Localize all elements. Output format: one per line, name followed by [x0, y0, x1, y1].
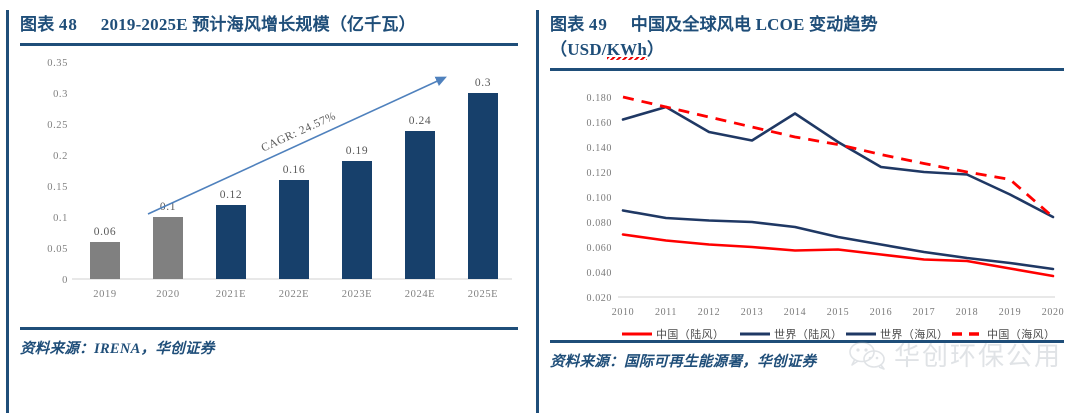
series-world-onshore: [623, 211, 1053, 270]
figure-49-chart: 0.180 0.160 0.140 0.120 0.100 0.080 0.06…: [550, 75, 1064, 340]
x-tick-label: 2019: [999, 307, 1021, 318]
y-tick-label: 0.060: [587, 243, 613, 254]
x-tick-label: 2010: [612, 307, 634, 318]
figure-48-title-prefix: 图表: [20, 15, 54, 34]
x-tick-label: 2017: [913, 307, 935, 318]
figure-page: 图表 48 2019-2025E 预计海风增长规模（亿千瓦） 0.35 0.3 …: [0, 0, 1080, 417]
bar-2025E: [468, 93, 498, 279]
figure-49-panel: 图表 49 中国及全球风电 LCOE 变动趋势 （USD/KWh） 0.180 …: [530, 0, 1080, 417]
series-world-offshore: [623, 107, 1053, 217]
y-tick-label: 0.05: [47, 244, 68, 255]
bar-2021E: [216, 205, 246, 279]
x-tick-label: 2023E: [342, 289, 372, 300]
bar-2023E: [342, 161, 372, 279]
x-tick-label: 2012: [698, 307, 720, 318]
x-tick-label: 2020: [1042, 307, 1064, 318]
figure-49-title-text: 中国及全球风电 LCOE 变动趋势: [631, 15, 878, 34]
y-tick-label: 0.040: [587, 268, 613, 279]
bar-2024E: [405, 131, 435, 279]
figure-49-title-prefix: 图表: [550, 15, 584, 34]
x-tick-label: 2015: [827, 307, 849, 318]
y-tick-label: 0.100: [587, 193, 613, 204]
x-tick-label: 2021E: [216, 289, 246, 300]
y-tick-label: 0.25: [47, 120, 68, 131]
figure-48-panel: 图表 48 2019-2025E 预计海风增长规模（亿千瓦） 0.35 0.3 …: [0, 0, 530, 417]
x-tick-label: 2014: [784, 307, 806, 318]
y-tick-label: 0.180: [587, 93, 613, 104]
y-tick-label: 0.2: [53, 151, 68, 162]
figure-49-title-rule: [550, 68, 1064, 71]
bar-label: 0.24: [409, 115, 432, 127]
figure-48-chart: 0.35 0.3 0.25 0.2 0.15 0.1 0.05 0: [20, 52, 518, 327]
legend-label-china-offshore: 中国（海风）: [987, 327, 1055, 340]
bar-label: 0.19: [346, 145, 369, 157]
y-axis-ticks: 0.180 0.160 0.140 0.120 0.100 0.080 0.06…: [587, 93, 613, 304]
series-china-onshore: [623, 235, 1053, 277]
figure-49-unit-b: KWh: [607, 40, 647, 63]
bar-label: 0.16: [283, 164, 306, 176]
y-tick-label: 0.120: [587, 168, 613, 179]
bar-2019: [90, 242, 120, 279]
bar-2020: [153, 217, 183, 279]
legend-label-world-offshore: 世界（海风）: [880, 327, 948, 340]
figure-49-title-line1: 图表 49 中国及全球风电 LCOE 变动趋势: [550, 12, 1064, 37]
y-tick-label: 0.35: [47, 58, 68, 69]
x-axis-ticks: 2019 2020 2021E 2022E 2023E 2024E 2025E: [93, 289, 498, 300]
figure-49-title-line2: （USD/KWh）: [550, 37, 1064, 62]
figure-49-title: 图表 49 中国及全球风电 LCOE 变动趋势 （USD/KWh）: [550, 0, 1064, 62]
figure-49-paren-open: （: [550, 40, 567, 59]
x-tick-label: 2020: [156, 289, 179, 300]
line-chart-svg: 0.180 0.160 0.140 0.120 0.100 0.080 0.06…: [550, 75, 1064, 340]
y-tick-label: 0.080: [587, 218, 613, 229]
figure-48-source: 资料来源：IRENA，华创证券: [20, 330, 518, 358]
y-axis-ticks: 0.35 0.3 0.25 0.2 0.15 0.1 0.05 0: [47, 58, 68, 286]
y-tick-label: 0.140: [587, 143, 613, 154]
bar-label: 0.3: [475, 77, 491, 89]
y-tick-label: 0: [62, 275, 68, 286]
bar-2022E: [279, 180, 309, 279]
bar-label: 0.12: [220, 189, 243, 201]
x-tick-label: 2024E: [405, 289, 435, 300]
chart-legend: 中国（陆风） 世界（陆风） 世界（海风） 中国（海风）: [622, 327, 1055, 340]
figure-48-number: 48: [59, 15, 78, 34]
figure-49-source: 资料来源：国际可再生能源署，华创证券: [550, 343, 1064, 371]
x-tick-label: 2025E: [468, 289, 498, 300]
figure-49-paren-close: ）: [647, 40, 664, 59]
y-tick-label: 0.160: [587, 118, 613, 129]
bar-chart-svg: 0.35 0.3 0.25 0.2 0.15 0.1 0.05 0: [20, 52, 518, 327]
legend-label-world-onshore: 世界（陆风）: [774, 327, 842, 340]
x-tick-label: 2019: [93, 289, 116, 300]
figure-49-unit-a: USD/: [567, 40, 607, 59]
x-tick-label: 2013: [741, 307, 763, 318]
series-china-offshore: [623, 97, 1053, 217]
x-axis-ticks: 2010 2011 2012 2013 2014 2015 2016 2017 …: [612, 307, 1064, 318]
figure-48-title-text: 2019-2025E 预计海风增长规模（亿千瓦）: [101, 15, 416, 34]
figure-49-number: 49: [589, 15, 608, 34]
bar-label: 0.06: [94, 226, 117, 238]
bars: [90, 93, 498, 279]
y-tick-label: 0.020: [587, 293, 613, 304]
legend-label-china-onshore: 中国（陆风）: [656, 327, 724, 340]
x-tick-label: 2016: [870, 307, 892, 318]
y-tick-label: 0.1: [53, 213, 68, 224]
y-tick-label: 0.15: [47, 182, 68, 193]
x-tick-label: 2018: [956, 307, 978, 318]
y-tick-label: 0.3: [53, 89, 68, 100]
figure-48-title: 图表 48 2019-2025E 预计海风增长规模（亿千瓦）: [20, 0, 518, 37]
figure-48-title-rule: [20, 43, 518, 46]
x-tick-label: 2022E: [279, 289, 309, 300]
x-tick-label: 2011: [655, 307, 677, 318]
